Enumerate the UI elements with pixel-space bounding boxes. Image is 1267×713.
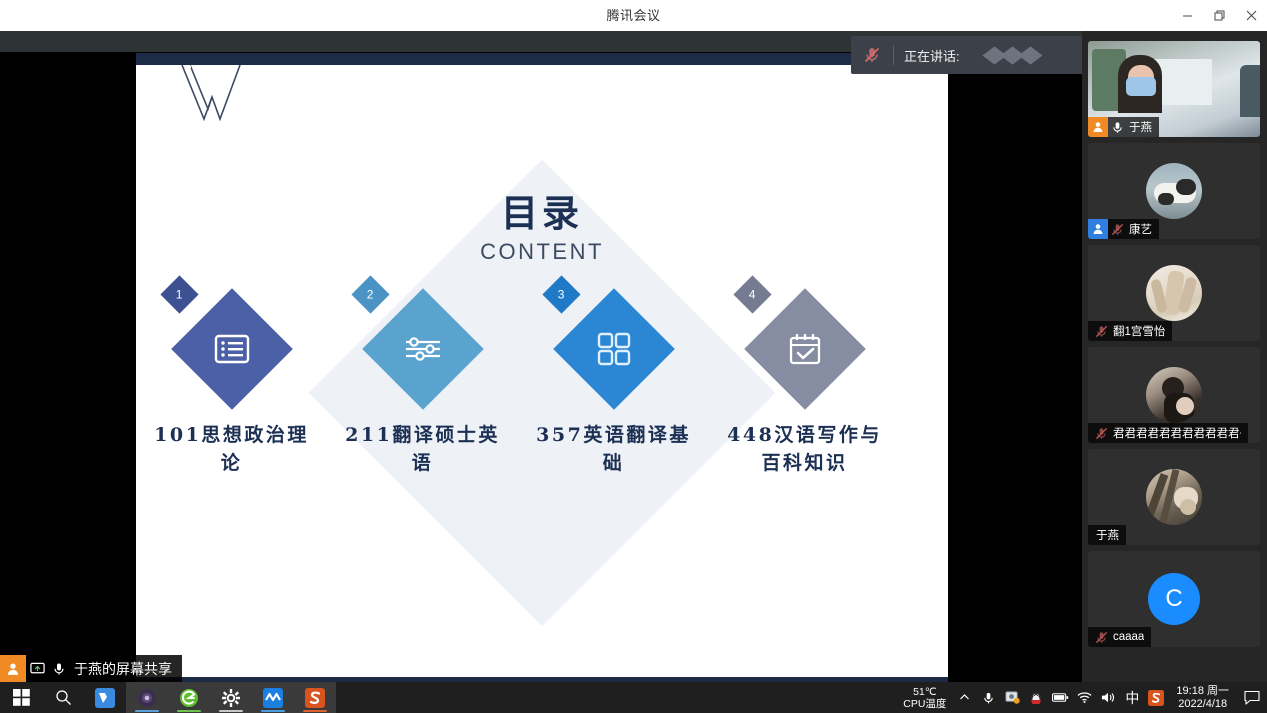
microphone-muted-icon — [861, 44, 883, 66]
speaking-label: 正在讲话: — [904, 46, 960, 65]
participant-name: 康艺 — [1127, 221, 1152, 237]
microphone-muted-icon — [1092, 321, 1111, 341]
diamond-wrapper-1: 1 — [172, 289, 292, 409]
sogou-icon[interactable] — [294, 682, 336, 713]
close-button[interactable] — [1235, 0, 1267, 31]
chevron-up-icon[interactable] — [952, 682, 976, 713]
host-badge-icon — [1088, 117, 1108, 137]
diamond-shape-3 — [553, 288, 675, 410]
item-number-badge-2: 2 — [351, 275, 389, 313]
diamond-wrapper-2: 2 — [363, 289, 483, 409]
diamond-shape-1 — [171, 288, 293, 410]
participant-tile[interactable]: 于燕 — [1088, 449, 1260, 545]
avatar: C — [1148, 573, 1200, 625]
microphone-icon[interactable] — [976, 682, 1000, 713]
slide-item-label-2: 211翻译硕士英语 — [335, 421, 510, 477]
window-titlebar: 腾讯会议 — [0, 0, 1267, 32]
toast-divider — [893, 45, 894, 65]
speaking-indicator-toast: 正在讲话: — [851, 36, 1090, 74]
member-badge-icon — [1088, 219, 1108, 239]
system-tray: 51℃ CPU温度 — [903, 682, 1267, 713]
wifi-icon[interactable] — [1072, 682, 1096, 713]
microphone-icon[interactable] — [48, 655, 70, 682]
screen-share-icon[interactable] — [26, 655, 48, 682]
participant-namebar: caaaa — [1088, 627, 1151, 647]
volume-icon[interactable] — [1096, 682, 1120, 713]
microphone-muted-icon — [1092, 627, 1111, 647]
slide-item-4: 4 — [709, 289, 900, 477]
screenshot-icon[interactable] — [1000, 682, 1024, 713]
slide-item-label-1: 101思想政治理论 — [144, 421, 319, 477]
ime-indicator[interactable]: 中 — [1120, 682, 1144, 713]
meeting-body: 目录 CONTENT 1 — [0, 31, 1267, 682]
clock-date: 2022/4/18 — [1176, 698, 1229, 711]
participant-namebar: 翻1宫雪怡 — [1088, 321, 1172, 341]
w-logo — [174, 65, 244, 125]
start-button[interactable] — [0, 682, 42, 713]
diamond-shape-2 — [362, 288, 484, 410]
battery-icon[interactable] — [1048, 682, 1072, 713]
slide-item-1: 1 101思想政治理论 — [136, 289, 327, 477]
avatar — [1146, 265, 1202, 321]
cpu-temperature-widget[interactable]: 51℃ CPU温度 — [903, 686, 952, 710]
screen-share-control-bar[interactable]: 于燕的屏幕共享 — [0, 655, 182, 682]
microphone-on-icon — [1108, 117, 1127, 137]
participant-name: 于燕 — [1127, 119, 1152, 135]
participant-name: 于燕 — [1088, 527, 1119, 543]
participant-name: caaaa — [1111, 631, 1144, 643]
participant-tile[interactable]: 于燕 — [1088, 41, 1260, 137]
window-title: 腾讯会议 — [0, 0, 1267, 31]
screen-share-label: 于燕的屏幕共享 — [70, 659, 182, 679]
taskbar-clock[interactable]: 19:18 周一 2022/4/18 — [1168, 685, 1237, 711]
shared-screen-region[interactable]: 目录 CONTENT 1 — [0, 31, 1082, 682]
windows-taskbar: 51℃ CPU温度 — [0, 682, 1267, 713]
slide-item-2: 2 — [327, 289, 518, 477]
diamond-shape-4 — [744, 288, 866, 410]
host-person-icon — [0, 655, 26, 682]
item-number-badge-4: 4 — [733, 275, 771, 313]
participant-name: 翻1宫雪怡 — [1111, 323, 1165, 339]
wps-icon[interactable] — [84, 682, 126, 713]
gear-icon[interactable] — [210, 682, 252, 713]
restore-button[interactable] — [1203, 0, 1235, 31]
desktop-root: 腾讯会议 — [0, 0, 1267, 713]
speaking-waveform-blocks — [987, 48, 1038, 63]
slide-item-label-3: 357英语翻译基础 — [526, 421, 701, 477]
participant-tile[interactable]: 君君君君君君君君君君君子 — [1088, 347, 1260, 443]
participant-namebar: 于燕 — [1088, 525, 1126, 545]
diamond-wrapper-4: 4 — [745, 289, 865, 409]
participants-sidebar[interactable]: 于燕 — [1082, 31, 1267, 682]
qq-penguin-icon[interactable] — [1024, 682, 1048, 713]
avatar — [1146, 163, 1202, 219]
slide-title: 目录 — [136, 183, 948, 237]
participant-namebar: 康艺 — [1088, 219, 1159, 239]
minimize-button[interactable] — [1171, 0, 1203, 31]
slide-items-row: 1 101思想政治理论 — [136, 289, 948, 477]
participant-name: 君君君君君君君君君君君子 — [1111, 425, 1241, 441]
notification-icon[interactable] — [1237, 682, 1267, 713]
participant-tile[interactable]: 翻1宫雪怡 — [1088, 245, 1260, 341]
avatar — [1146, 367, 1202, 423]
slide-top-accent-bar — [136, 53, 948, 65]
browser-icon[interactable] — [126, 682, 168, 713]
microphone-muted-icon — [1108, 219, 1127, 239]
slide-subtitle: CONTENT — [136, 239, 948, 265]
participant-namebar: 君君君君君君君君君君君子 — [1088, 423, 1248, 443]
clock-time: 19:18 周一 — [1176, 685, 1229, 698]
avatar-letter: C — [1165, 585, 1182, 613]
presentation-slide: 目录 CONTENT 1 — [136, 53, 948, 682]
sogou-s-icon[interactable] — [1144, 682, 1168, 713]
slide-item-label-4: 448汉语写作与百科知识 — [717, 421, 892, 477]
cpu-temp-label: CPU温度 — [903, 698, 946, 710]
cpu-temp-value: 51℃ — [903, 686, 946, 698]
microphone-muted-icon — [1092, 423, 1111, 443]
item-number-badge-1: 1 — [160, 275, 198, 313]
edge-icon[interactable] — [168, 682, 210, 713]
participant-namebar: 于燕 — [1088, 117, 1159, 137]
window-controls — [1171, 0, 1267, 31]
tencent-meeting-icon[interactable] — [252, 682, 294, 713]
avatar — [1146, 469, 1202, 525]
diamond-wrapper-3: 3 — [554, 289, 674, 409]
participant-tile[interactable]: C caaaa — [1088, 551, 1260, 647]
search-icon[interactable] — [42, 682, 84, 713]
slide-item-3: 3 357英语翻译基础 — [518, 289, 709, 477]
participant-tile[interactable]: 康艺 — [1088, 143, 1260, 239]
